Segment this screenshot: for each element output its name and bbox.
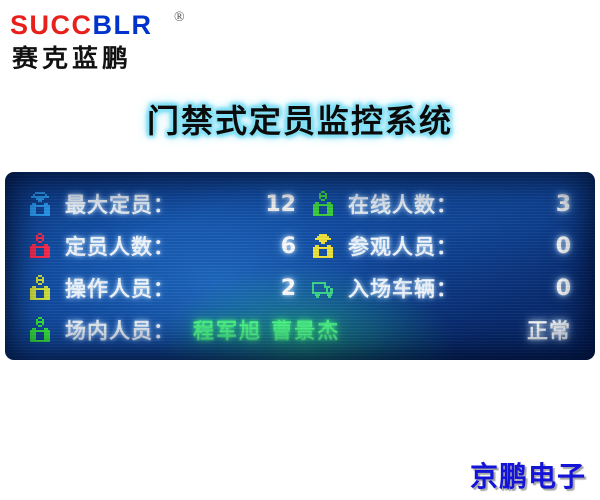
led-value-max-capacity: 12 — [265, 192, 302, 217]
led-label-personnel-onsite: 场内人员： — [65, 315, 175, 345]
logo-wordmark: SUCCBLR — [10, 10, 153, 41]
led-display-panel: 最大定员： 12 — [5, 172, 595, 360]
led-cell-visitor-count: 参观人员： 0 — [302, 231, 577, 261]
led-value-vehicle-count: 0 — [556, 276, 577, 301]
person-green-bright-icon — [27, 316, 53, 344]
person-yellow-icon — [27, 274, 53, 302]
led-value-online-count: 3 — [556, 192, 577, 217]
footer-brand: 京鹏电子 — [470, 455, 586, 495]
logo-chinese-name: 赛克蓝鹏 — [12, 39, 132, 74]
led-label-assigned-count: 定员人数： — [65, 231, 175, 261]
led-cell-online-count: 在线人数： 3 — [302, 189, 577, 219]
led-label-online-count: 在线人数： — [348, 189, 458, 219]
led-row-personnel-onsite: 场内人员： 程军旭 曹景杰 正常 — [27, 310, 577, 350]
led-cell-max-capacity: 最大定员： 12 — [27, 189, 302, 219]
led-row: 操作人员： 2 — [27, 268, 577, 308]
led-label-max-capacity: 最大定员： — [65, 189, 175, 219]
page-title: 门禁式定员监控系统 — [0, 96, 600, 142]
person-hardhat-blue-icon — [27, 190, 53, 218]
status-badge: 正常 — [527, 315, 577, 345]
led-cell-vehicle-count: 入场车辆： 0 — [302, 273, 577, 303]
person-cap-yellow-icon — [310, 232, 336, 260]
led-value-operator-count: 2 — [281, 276, 302, 301]
led-label-visitor-count: 参观人员： — [348, 231, 458, 261]
led-value-personnel-names: 程军旭 曹景杰 — [193, 315, 340, 345]
led-cell-assigned-count: 定员人数： 6 — [27, 231, 302, 261]
person-red-icon — [27, 232, 53, 260]
led-content-grid: 最大定员： 12 — [5, 172, 595, 360]
person-green-icon — [310, 190, 336, 218]
led-row: 定员人数： 6 — [27, 226, 577, 266]
led-cell-operator-count: 操作人员： 2 — [27, 273, 302, 303]
logo-wordmark-blr: BLR — [93, 10, 153, 40]
truck-green-icon — [310, 274, 336, 302]
logo-wordmark-succ: SUCC — [10, 10, 93, 40]
led-value-assigned-count: 6 — [281, 234, 302, 259]
registered-trademark-icon: ® — [174, 10, 185, 26]
led-row: 最大定员： 12 — [27, 184, 577, 224]
led-label-operator-count: 操作人员： — [65, 273, 175, 303]
company-logo: SUCCBLR ® 赛克蓝鹏 — [8, 8, 208, 70]
led-label-vehicle-count: 入场车辆： — [348, 273, 458, 303]
led-value-visitor-count: 0 — [556, 234, 577, 259]
